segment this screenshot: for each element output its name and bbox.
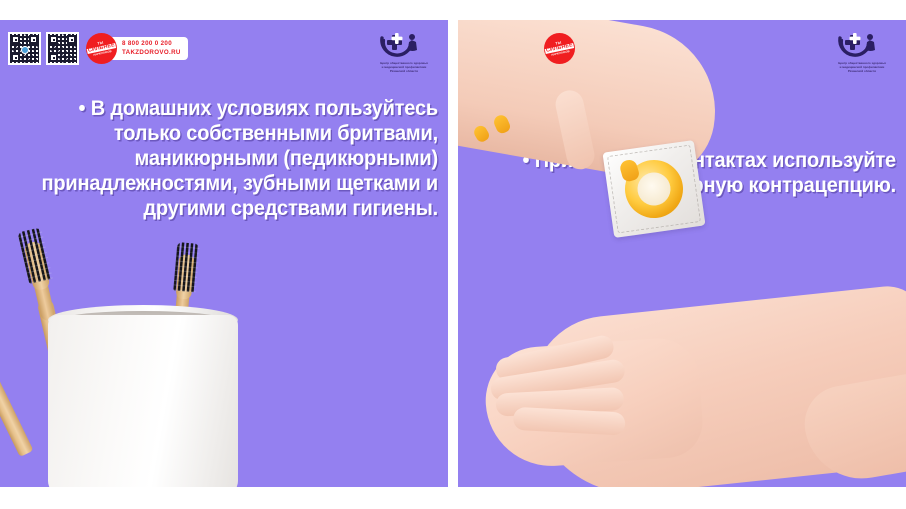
campaign-badge-icon: ТЫ СИЛЬНЕЕ НАРКОТИКОВ (544, 33, 575, 64)
poster-panel-left: 8 800 200 0 200 TAKZDOROVO.RU ТЫ СИЛЬНЕЕ… (0, 20, 448, 487)
hands-passing-condom-photo (458, 20, 906, 487)
condom-package (602, 140, 705, 238)
brand-lockup-right[interactable]: 8 800 200 0 200 TAKZDOROVO.RU ТЫ СИЛЬНЕЕ… (544, 34, 575, 64)
ceramic-cup (48, 315, 238, 487)
thumb (553, 88, 597, 172)
poster-stage: 8 800 200 0 200 TAKZDOROVO.RU ТЫ СИЛЬНЕЕ… (0, 0, 906, 509)
campaign-badge-icon: ТЫ СИЛЬНЕЕ НАРКОТИКОВ (86, 33, 117, 64)
brand-lockup-left[interactable]: 8 800 200 0 200 TAKZDOROVO.RU ТЫ СИЛЬНЕЕ… (86, 34, 117, 64)
fingernail-2 (492, 113, 512, 135)
open-palm (482, 336, 705, 471)
poster-panel-right: 8 800 200 0 200 TAKZDOROVO.RU ТЫ СИЛЬНЕЕ… (458, 20, 906, 487)
toothbrushes-in-cup-photo (0, 20, 448, 487)
fingernail-3 (472, 123, 491, 143)
